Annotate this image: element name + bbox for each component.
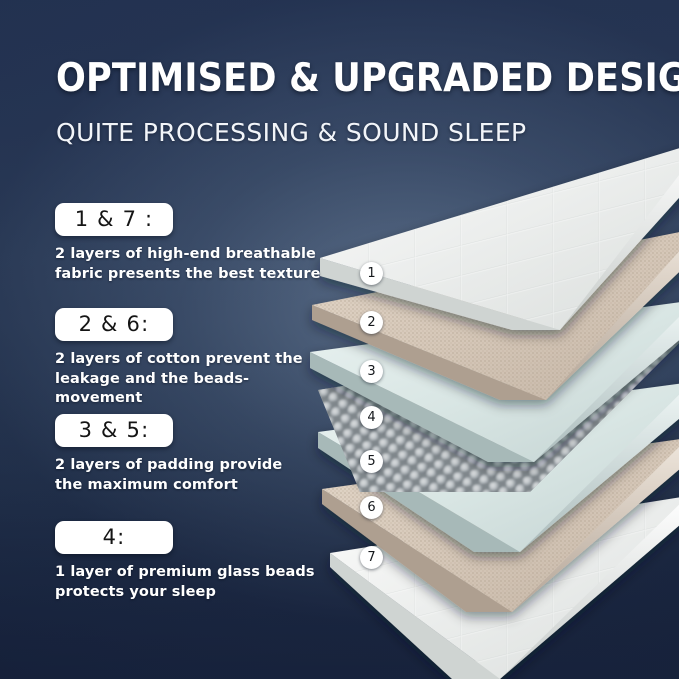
feature-pill-2-and-6: 2 & 6: [55,308,173,341]
infographic-canvas: 1 2 3 4 5 6 7 OPTIMISED & UPGRADED DESIG… [0,0,679,679]
feature-description: 2 layers of cotton prevent the leakage a… [55,350,323,409]
feature-block-1-and-7: 1 & 7 : 2 layers of high-end breathable … [55,203,323,284]
feature-block-2-and-6: 2 & 6: 2 layers of cotton prevent the le… [55,308,323,409]
layer-badge-4: 4 [360,406,383,429]
feature-pill-label: 1 & 7 : [75,208,154,231]
layer-badge-6: 6 [360,496,383,519]
feature-pill-label: 2 & 6: [79,313,150,336]
feature-block-4: 4: 1 layer of premium glass beads protec… [55,521,323,602]
page-subtitle: QUITE PROCESSING & SOUND SLEEP [56,118,527,148]
feature-pill-4: 4: [55,521,173,554]
feature-pill-1-and-7: 1 & 7 : [55,203,173,236]
layer-badge-1: 1 [360,262,383,285]
layer-badge-5: 5 [360,450,383,473]
layer-badge-3: 3 [360,360,383,383]
feature-pill-label: 4: [103,526,126,549]
page-title: OPTIMISED & UPGRADED DESIGN [56,57,679,101]
feature-block-3-and-5: 3 & 5: 2 layers of padding provide the m… [55,414,323,495]
layer-badge-2: 2 [360,311,383,334]
feature-description: 1 layer of premium glass beads protects … [55,563,323,602]
feature-description: 2 layers of padding provide the maximum … [55,456,323,495]
feature-pill-3-and-5: 3 & 5: [55,414,173,447]
feature-description: 2 layers of high-end breathable fabric p… [55,245,323,284]
layer-badge-7: 7 [360,546,383,569]
feature-pill-label: 3 & 5: [79,419,150,442]
